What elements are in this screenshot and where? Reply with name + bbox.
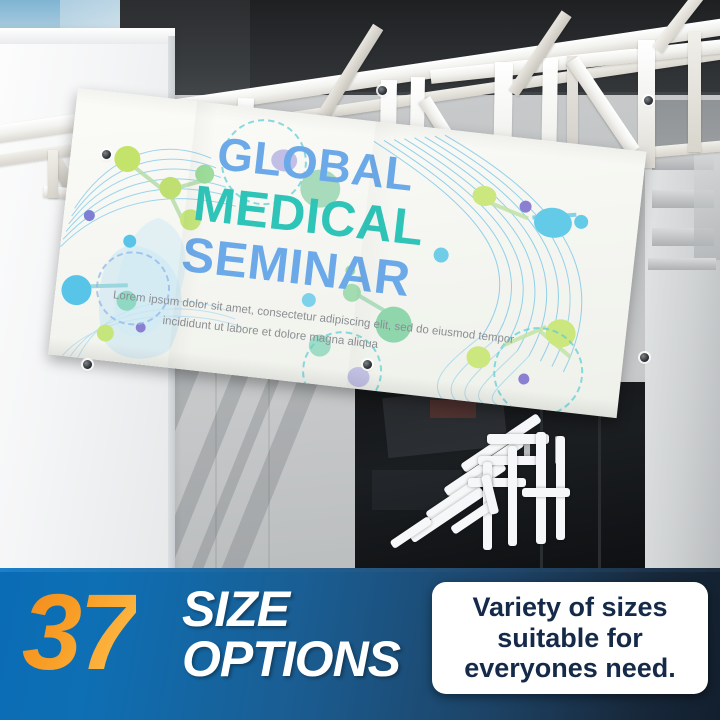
- options-label: OPTIONS: [182, 634, 400, 684]
- mount-bracket-post: [48, 150, 58, 198]
- promo-screenshot: GLOBAL MEDICAL SEMINAR Lorem ipsum dolor…: [0, 0, 720, 720]
- product-photo: GLOBAL MEDICAL SEMINAR Lorem ipsum dolor…: [0, 0, 720, 572]
- vinyl-banner: GLOBAL MEDICAL SEMINAR Lorem ipsum dolor…: [48, 88, 646, 418]
- chair-seat: [468, 478, 526, 487]
- grommet-bottom-mid: [363, 360, 372, 369]
- callout-box: Variety of sizes suitable for everyones …: [432, 582, 708, 694]
- callout-line-2: suitable for: [497, 623, 643, 654]
- callout-line-1: Variety of sizes: [472, 592, 667, 623]
- chair-leg: [508, 446, 517, 546]
- size-label: SIZE: [182, 584, 289, 634]
- grommet-bottom-right: [640, 353, 649, 362]
- grommet-top-mid: [378, 86, 387, 95]
- size-count-number: 37: [22, 578, 136, 686]
- grommet-top-left: [102, 150, 111, 159]
- grommet-top-right: [644, 96, 653, 105]
- glass-reflection-red: [430, 400, 476, 418]
- banner-assembly: GLOBAL MEDICAL SEMINAR Lorem ipsum dolor…: [78, 88, 650, 388]
- chair-rail: [522, 488, 570, 497]
- truss-post: [688, 32, 701, 152]
- callout-line-3: everyones need.: [464, 653, 676, 684]
- grommet-bottom-left: [83, 360, 92, 369]
